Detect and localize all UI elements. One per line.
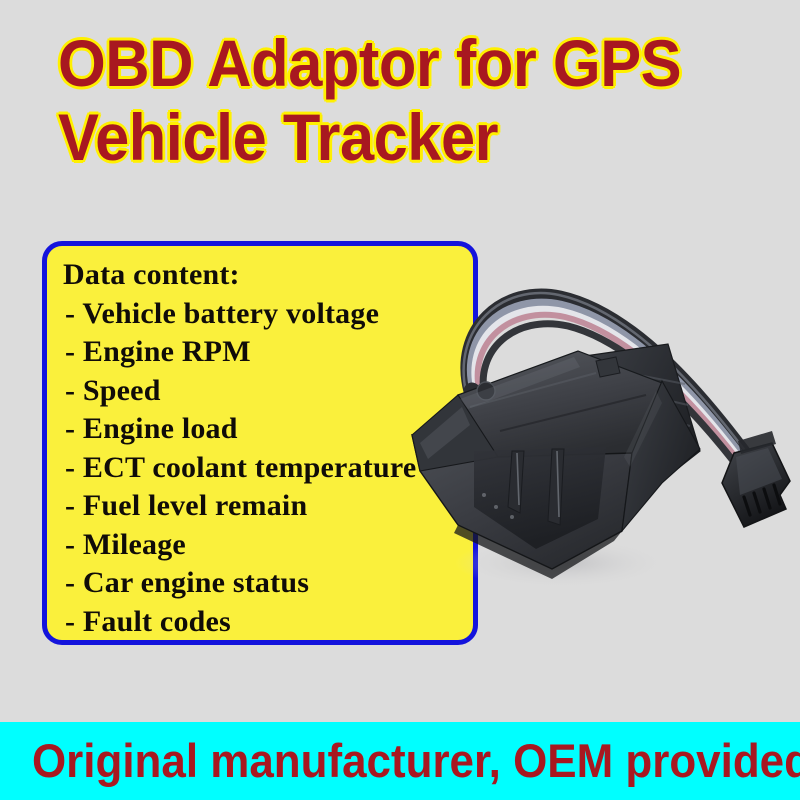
title-line-1: OBD Adaptor for GPS bbox=[58, 26, 709, 100]
banner-text: Original manufacturer, OEM provided bbox=[32, 734, 724, 788]
bottom-banner: Original manufacturer, OEM provided bbox=[0, 722, 800, 800]
page-title: OBD Adaptor for GPS Vehicle Tracker bbox=[58, 26, 758, 174]
title-line-2: Vehicle Tracker bbox=[58, 100, 709, 174]
obd-connector-body bbox=[412, 344, 700, 579]
product-poster: OBD Adaptor for GPS Vehicle Tracker Data… bbox=[0, 0, 800, 800]
list-item: - Fault codes bbox=[63, 603, 467, 642]
product-photo-obd-adaptor bbox=[400, 195, 800, 595]
